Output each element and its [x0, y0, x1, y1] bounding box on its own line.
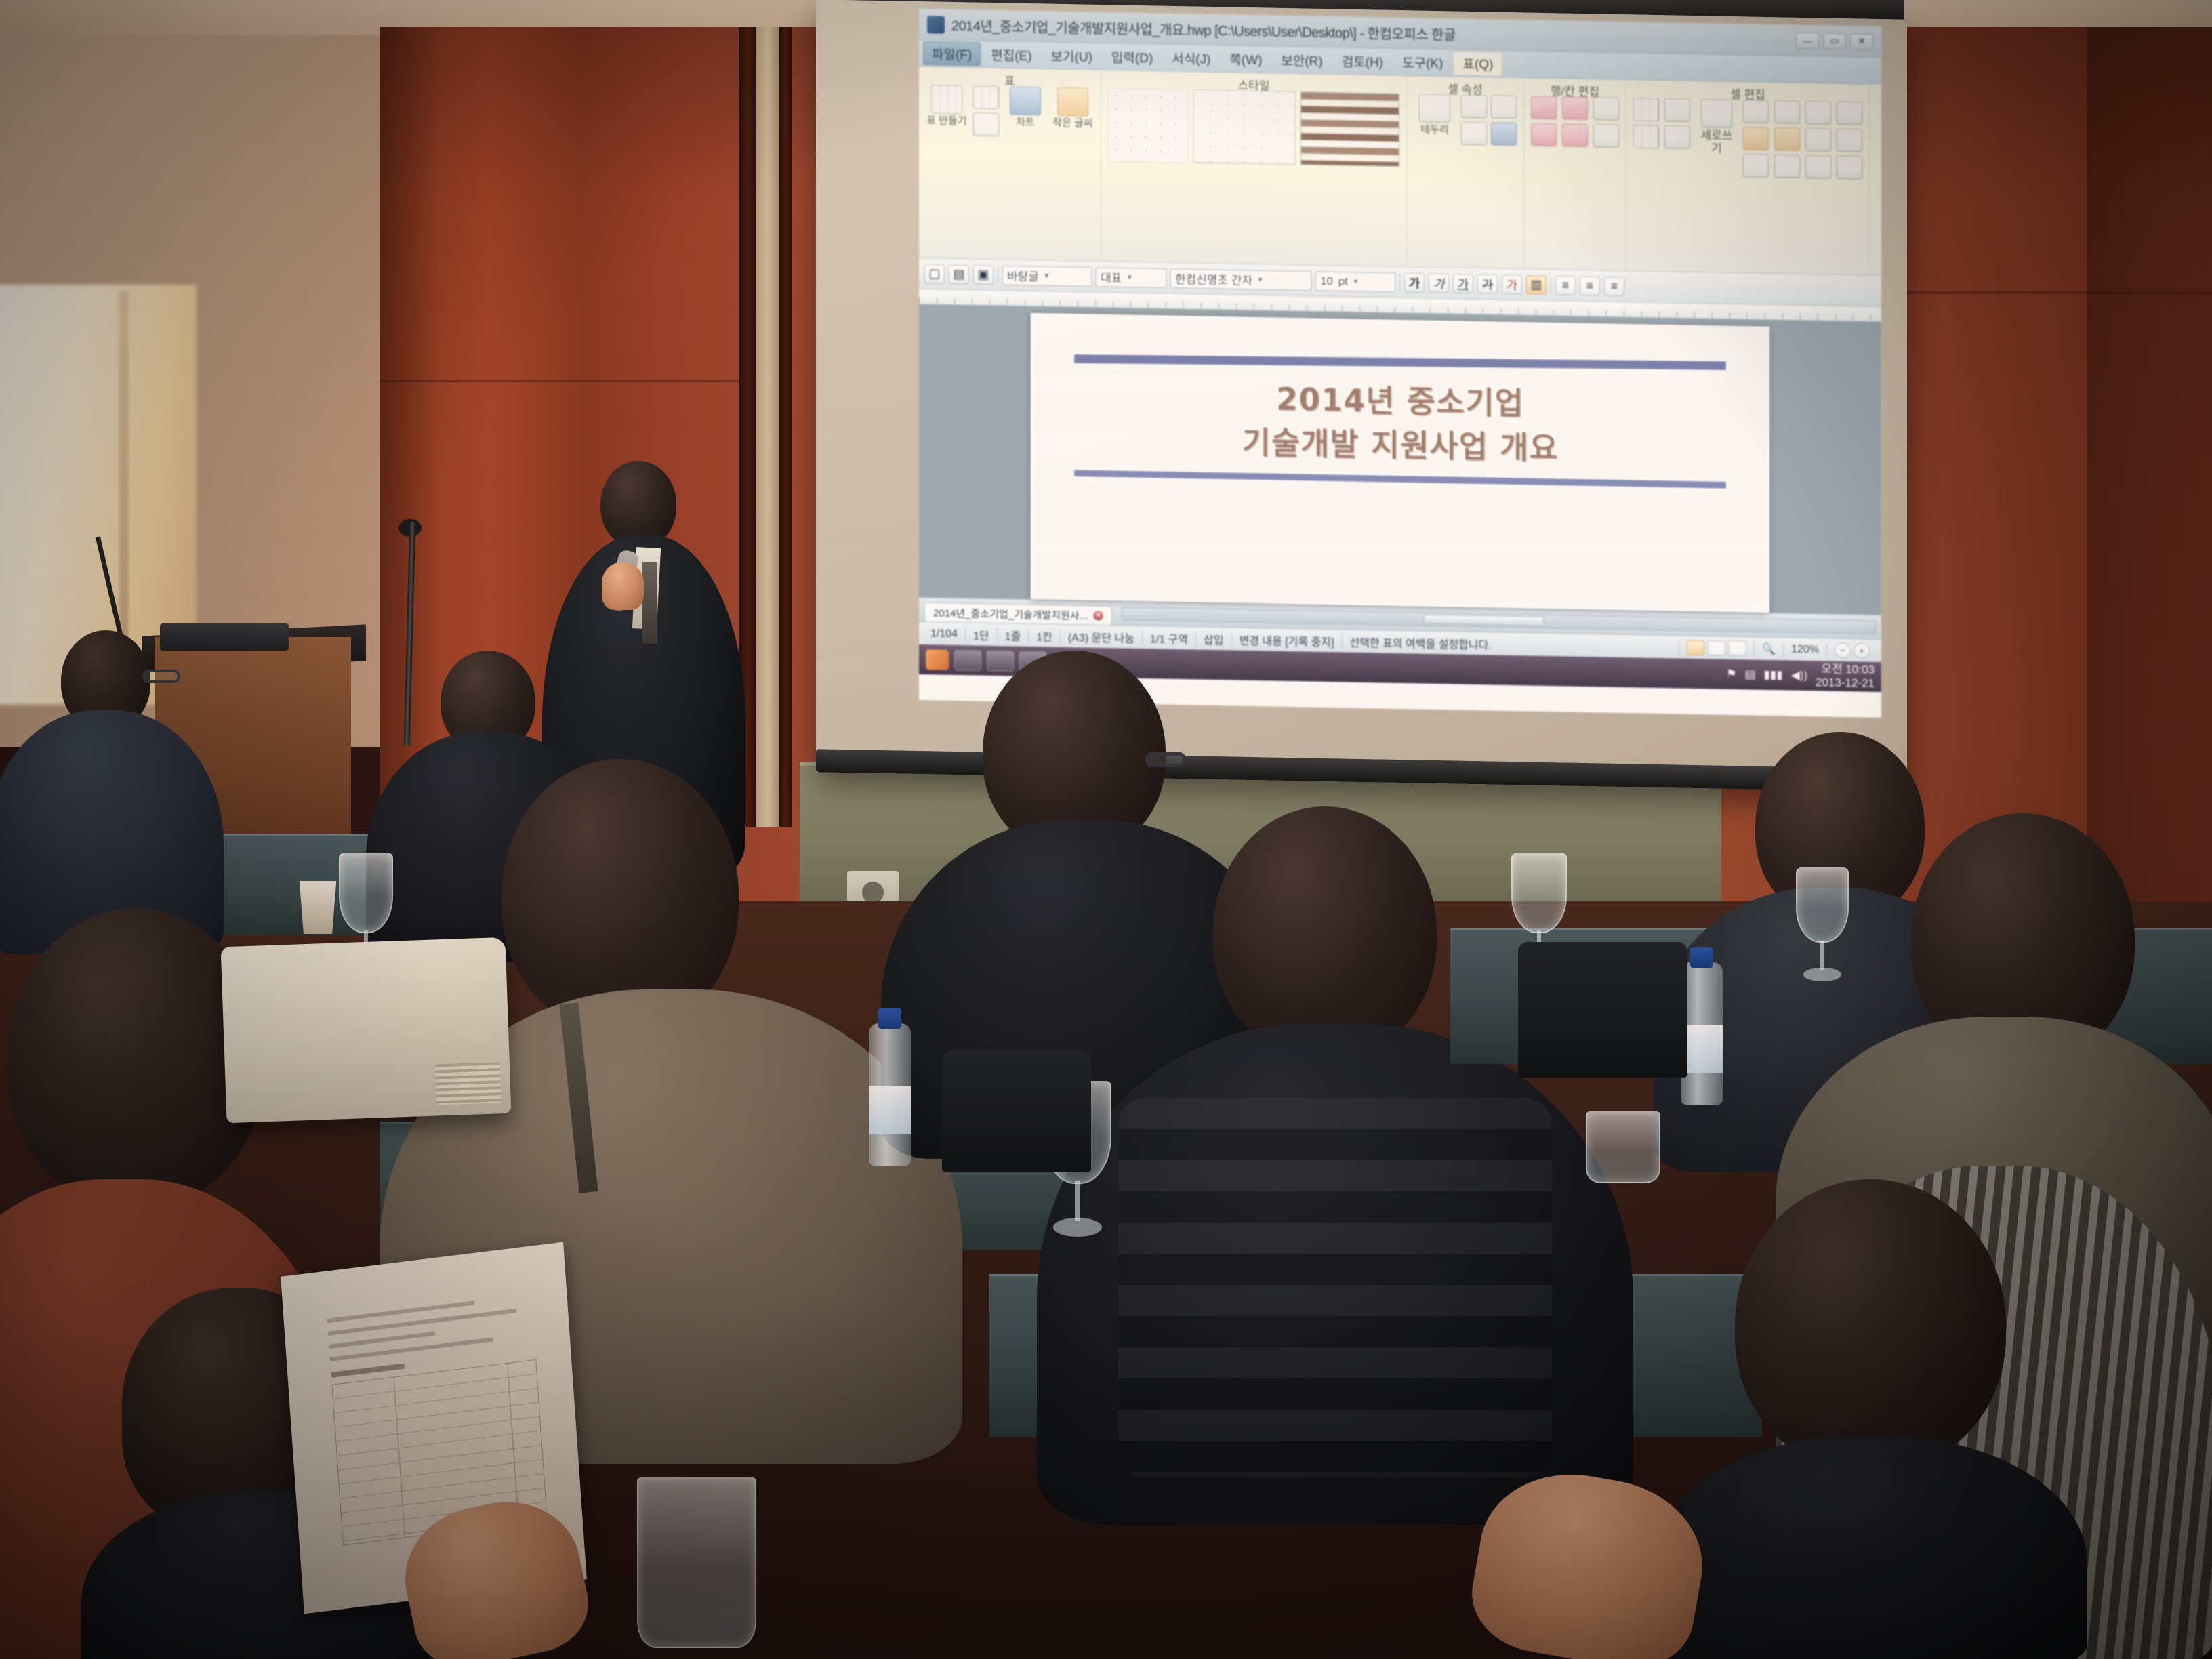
- cell-distribute-icon[interactable]: [1664, 125, 1690, 149]
- chart-icon: [1010, 86, 1041, 115]
- status-char: 1칸: [1029, 628, 1061, 643]
- document-page[interactable]: 2014년 중소기업 기술개발 지원사업 개요: [1031, 313, 1769, 613]
- zoom-in-button[interactable]: +: [1853, 643, 1870, 658]
- split-cell-icon[interactable]: [1633, 98, 1659, 121]
- bottle-cap: [878, 1008, 902, 1029]
- align-right-button[interactable]: ≡: [1604, 276, 1624, 296]
- border-style-icon[interactable]: [1491, 95, 1517, 119]
- eyeglasses-icon: [1145, 752, 1186, 767]
- bold-button[interactable]: 가: [1404, 273, 1425, 293]
- style-combo[interactable]: 바탕글 ▼: [1002, 266, 1092, 286]
- taskbar-clock[interactable]: 오전 10:03 2013-12-21: [1816, 663, 1875, 691]
- body: [1654, 1437, 2087, 1659]
- table-small-buttons: [973, 85, 999, 136]
- insert-table-label: 표 만들기: [926, 115, 966, 127]
- document-canvas[interactable]: 2014년 중소기업 기술개발 지원사업 개요: [919, 304, 1881, 615]
- glass-bowl: [1586, 1111, 1660, 1183]
- status-hint: 선택한 표의 여백을 설정합니다.: [1343, 634, 1680, 655]
- cell-fill-button[interactable]: 작은 글씨: [1052, 87, 1094, 130]
- row-column-delete-tools: [1562, 96, 1588, 147]
- italic-button[interactable]: 가: [1429, 273, 1449, 293]
- tabletop-projector: [221, 937, 512, 1123]
- border-icon: [1419, 94, 1450, 123]
- width-view-button[interactable]: [1708, 640, 1725, 655]
- insert-table-button[interactable]: 표 만들기: [926, 85, 968, 127]
- align-bottomleft-icon[interactable]: [1774, 155, 1800, 178]
- save-document-button[interactable]: ▣: [973, 265, 994, 285]
- ribbon-group-label: 스타일: [1238, 76, 1270, 94]
- document-tab-label: 2014년_중소기업_기술개발지원사...: [933, 605, 1088, 622]
- menu-item-input[interactable]: 입력(D): [1103, 45, 1162, 69]
- clock-date: 2013-12-21: [1816, 676, 1875, 690]
- water-glass-6: [637, 1477, 756, 1659]
- cell-split-tools: [1633, 98, 1659, 148]
- cell-align-tools-a: [1743, 100, 1769, 178]
- highlight-button[interactable]: ▥: [1526, 275, 1547, 295]
- new-document-button[interactable]: ▢: [924, 264, 945, 284]
- status-line: 1줄: [998, 628, 1029, 643]
- network-icon[interactable]: ▮▮▮: [1764, 668, 1783, 682]
- font-family-combo[interactable]: 한컴신명조 간자 ▼: [1170, 268, 1311, 290]
- align-top-icon[interactable]: [1743, 100, 1769, 123]
- single-page-view-button[interactable]: [1729, 640, 1746, 655]
- vertical-text-button[interactable]: 세로쓰기: [1696, 99, 1738, 156]
- handout-line: [328, 1309, 516, 1336]
- system-tray: ⚑ ▤ ▮▮▮ ◀)) 오전 10:03 2013-12-21: [1726, 661, 1875, 690]
- cell-layout-icon[interactable]: [1664, 98, 1690, 122]
- zoom-steppers: − +: [1827, 642, 1877, 658]
- split-cells-icon[interactable]: [973, 112, 999, 136]
- border-pen-icon[interactable]: [1461, 95, 1487, 119]
- table-style-preset-gallery[interactable]: [1300, 91, 1399, 167]
- minimize-button[interactable]: —: [1796, 32, 1819, 49]
- delete-column-icon[interactable]: [1562, 123, 1588, 147]
- toolbar-separator: [1551, 276, 1551, 294]
- water-glass-4: [1586, 1111, 1660, 1186]
- align-left-button[interactable]: ≡: [1555, 276, 1576, 295]
- magnifier-icon[interactable]: 🔍: [1755, 641, 1784, 657]
- merge-cell-icon[interactable]: [1633, 125, 1659, 148]
- glass-bowl: [1511, 853, 1567, 933]
- chart-button[interactable]: 차트: [1004, 86, 1046, 129]
- cell-background-tools-row: [1461, 122, 1517, 146]
- status-page: 1/104: [923, 626, 966, 642]
- menu-item-edit[interactable]: 편집(E): [982, 43, 1040, 67]
- close-icon[interactable]: ✕: [1093, 611, 1103, 621]
- page-title: 2014년 중소기업 기술개발 지원사업 개요: [1031, 373, 1769, 475]
- cell-background-icon[interactable]: [1491, 122, 1517, 146]
- chair-back: [942, 1050, 1091, 1172]
- document-tab[interactable]: 2014년_중소기업_기술개발지원사... ✕: [924, 602, 1112, 625]
- bottle-label: [869, 1086, 911, 1134]
- menu-item-view[interactable]: 보기(U): [1042, 44, 1101, 68]
- underline-button[interactable]: 가: [1453, 274, 1473, 293]
- cell-border-tools: [1461, 95, 1517, 146]
- align-centerright-icon[interactable]: [1837, 129, 1862, 152]
- glass-foot: [1803, 968, 1841, 981]
- title-rule-bottom: [1074, 470, 1726, 489]
- cell-fill-icon: [1057, 87, 1088, 117]
- glass-bowl: [1796, 867, 1849, 943]
- font-size-value: 10: [1320, 274, 1333, 287]
- align-topleft-icon[interactable]: [1774, 100, 1800, 124]
- align-topright-icon[interactable]: [1837, 102, 1862, 125]
- head: [1213, 806, 1437, 1057]
- wall-reveal-light: [756, 27, 779, 827]
- align-bottom-icon[interactable]: [1743, 154, 1769, 178]
- vertical-text-label: 세로쓰기: [1696, 129, 1738, 156]
- hangul-word-processor-window[interactable]: 2014년_중소기업_기술개발지원사업_개요.hwp [C:\Users\Use…: [919, 9, 1881, 718]
- row-height-icon[interactable]: [1593, 97, 1619, 121]
- menu-item-page[interactable]: 쪽(W): [1221, 47, 1271, 70]
- chevron-down-icon: ▼: [1256, 276, 1264, 284]
- seminar-room-photo: 2014년_중소기업_기술개발지원사업_개요.hwp [C:\Users\Use…: [0, 0, 2212, 1659]
- column-width-icon[interactable]: [1593, 124, 1619, 148]
- align-center-icon[interactable]: [1774, 127, 1800, 151]
- align-bottomcenter-icon[interactable]: [1805, 155, 1831, 179]
- table-style-grid-gallery[interactable]: [1193, 89, 1295, 165]
- close-button[interactable]: ✕: [1850, 33, 1873, 50]
- glass-stem: [1075, 1181, 1080, 1221]
- align-middle-icon[interactable]: [1743, 127, 1769, 150]
- tab-table[interactable]: 표(Q): [1453, 51, 1502, 75]
- chevron-down-icon: ▼: [1352, 277, 1359, 285]
- chair-back: [1518, 942, 1687, 1078]
- status-paragraph: (A3) 문단 나눔: [1061, 628, 1143, 644]
- cell-shading-icon[interactable]: [1461, 122, 1487, 146]
- wall-reveal-dark: [779, 27, 792, 827]
- status-column: 1단: [966, 627, 998, 642]
- projector-vent: [435, 1062, 501, 1105]
- style-group-combo[interactable]: 대표 ▼: [1096, 267, 1166, 287]
- menu-item-review[interactable]: 검토(H): [1333, 49, 1392, 73]
- water-bottle-1: [869, 1023, 911, 1166]
- font-size-unit: pt: [1338, 274, 1348, 288]
- ribbon-group-row-column-edit: 행/칸 편집: [1524, 78, 1626, 270]
- zoom-out-button[interactable]: −: [1835, 642, 1851, 657]
- chart-label: 차트: [1016, 117, 1035, 129]
- title-rule-top: [1074, 354, 1726, 370]
- ribbon-group-label: 셀 속성: [1448, 79, 1483, 97]
- merge-cells-icon[interactable]: [973, 85, 999, 109]
- document-title: 2014년_중소기업_기술개발지원사업_개요.hwp [C:\Users\Use…: [951, 15, 1456, 44]
- toolbar-separator: [998, 266, 998, 284]
- table-icon: [931, 85, 962, 114]
- clock-time: 오전 10:03: [1816, 663, 1875, 677]
- cell-border-tools-row: [1461, 95, 1517, 119]
- row-column-size-tools: [1593, 97, 1619, 148]
- head: [1735, 1179, 2006, 1471]
- chevron-down-icon: ▼: [1043, 272, 1050, 280]
- presenter-hand: [602, 562, 644, 610]
- vertical-text-icon: [1701, 99, 1732, 128]
- status-insert-mode[interactable]: 삽입: [1196, 631, 1231, 647]
- align-topcenter-icon[interactable]: [1805, 101, 1831, 125]
- delete-row-icon[interactable]: [1562, 96, 1588, 120]
- cell-fill-label: 작은 글씨: [1052, 118, 1092, 130]
- menu-item-format[interactable]: 서식(J): [1163, 47, 1219, 70]
- glass-foot: [1053, 1218, 1102, 1237]
- ribbon-group-cell-properties: 셀 속성 테두리: [1407, 76, 1524, 268]
- status-track-changes[interactable]: 변경 내용 [기록 중지]: [1232, 632, 1343, 649]
- cell-align-tools-c: [1805, 101, 1831, 179]
- vest-quilting: [1118, 1098, 1552, 1477]
- cell-layout-tools: [1664, 98, 1690, 149]
- hancom-hangul-icon: [927, 16, 945, 33]
- window-buttons: — ▭ ✕: [1796, 32, 1873, 49]
- open-document-button[interactable]: ▤: [949, 264, 969, 284]
- font-color-button[interactable]: 가: [1502, 274, 1522, 294]
- menu-item-file[interactable]: 파일(F): [923, 41, 981, 66]
- maximize-button[interactable]: ▭: [1823, 33, 1846, 49]
- ribbon-group-label: 행/칸 편집: [1551, 81, 1599, 99]
- table-style-dot-gallery[interactable]: [1108, 88, 1188, 163]
- insert-row-below-icon[interactable]: [1531, 123, 1557, 147]
- align-centercenter-icon[interactable]: [1805, 128, 1831, 152]
- row-column-insert-tools: [1531, 96, 1557, 147]
- cell-border-button[interactable]: 테두리: [1414, 94, 1456, 136]
- glass-bowl: [637, 1477, 756, 1648]
- handout-section-heading: [331, 1364, 405, 1378]
- audience-member-1: [7, 630, 203, 942]
- font-size-combo[interactable]: 10 pt ▼: [1315, 271, 1395, 291]
- action-center-icon[interactable]: ▤: [1744, 668, 1755, 681]
- insert-row-above-icon[interactable]: [1531, 96, 1557, 120]
- ribbon-group-style: 스타일: [1101, 70, 1407, 266]
- flag-icon[interactable]: ⚑: [1726, 668, 1736, 681]
- strikethrough-button[interactable]: 가: [1477, 274, 1498, 294]
- align-center-button[interactable]: ≡: [1580, 276, 1600, 295]
- font-family-value: 한컴신명조 간자: [1175, 270, 1252, 288]
- cell-align-tools-b: [1774, 100, 1800, 178]
- status-section: 1/1 구역: [1143, 630, 1196, 646]
- align-bottomright-icon[interactable]: [1837, 156, 1862, 180]
- page-view-button[interactable]: [1687, 640, 1704, 655]
- style-combo-value: 바탕글: [1007, 266, 1039, 284]
- glass-stem: [1820, 941, 1824, 970]
- cell-align-tools-d: [1837, 102, 1862, 180]
- style-group-value: 대표: [1101, 268, 1122, 286]
- ribbon-group-label: 셀 편집: [1730, 85, 1765, 102]
- ribbon-group-label: 표: [1004, 71, 1015, 88]
- volume-icon[interactable]: ◀)): [1791, 669, 1807, 682]
- chevron-down-icon: ▼: [1126, 273, 1133, 281]
- ribbon-group-table: 표 표 만들기 차트 작은 글씨: [919, 67, 1101, 261]
- presenter-head: [600, 461, 676, 548]
- cell-border-label: 테두리: [1420, 125, 1448, 136]
- status-view-buttons: [1679, 640, 1755, 656]
- eyeglasses-icon: [142, 670, 180, 683]
- scrollbar-thumb[interactable]: [1424, 614, 1544, 626]
- presenter-necktie: [642, 562, 657, 644]
- ribbon-group-cell-edit: 셀 편집 세로쓰기: [1626, 80, 1870, 275]
- menu-item-tools[interactable]: 도구(K): [1393, 51, 1452, 75]
- bottle-cap: [1690, 947, 1714, 968]
- status-zoom[interactable]: 120%: [1784, 642, 1827, 657]
- water-glass-3: [1796, 867, 1849, 981]
- ribbon: 표 표 만들기 차트 작은 글씨: [919, 67, 1881, 276]
- toolbar-separator: [1399, 273, 1400, 291]
- menu-item-security[interactable]: 보안(R): [1272, 49, 1331, 73]
